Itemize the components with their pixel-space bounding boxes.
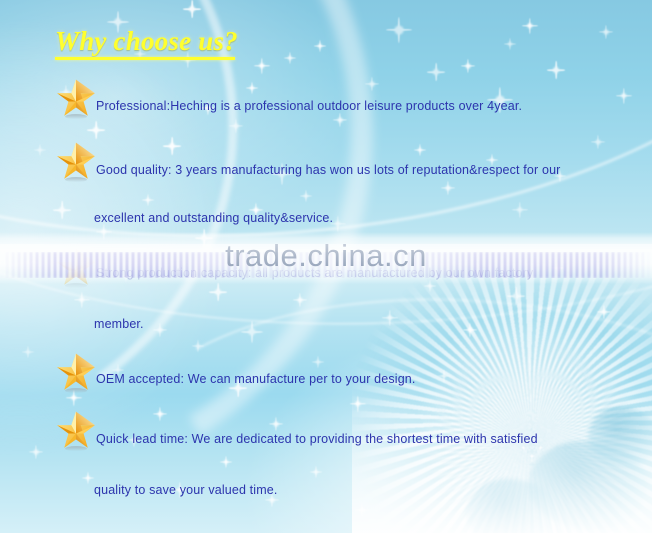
gold-star-icon	[55, 410, 97, 452]
gold-star-icon	[55, 78, 97, 120]
promo-banner: Why choose us? Professional:Hech	[0, 0, 652, 533]
list-item-text: excellent and outstanding quality&servic…	[94, 211, 333, 225]
gold-star-icon	[55, 141, 97, 183]
list-item-text: Good quality: 3 years manufacturing has …	[96, 163, 560, 177]
gold-star-icon	[55, 352, 97, 394]
gold-star-icon	[55, 352, 97, 394]
list-item-text: OEM accepted: We can manufacture per to …	[96, 372, 416, 386]
list-item-text: Quick lead time: We are dedicated to pro…	[96, 432, 538, 446]
gold-star-icon	[55, 141, 97, 183]
list-item-text: member.	[94, 317, 144, 331]
list-item-text: Professional:Heching is a professional o…	[96, 99, 522, 113]
list-item-text: quality to save your valued time.	[94, 483, 278, 497]
watermark-text: trade.china.cn	[0, 238, 652, 274]
gold-star-icon	[55, 410, 97, 452]
gold-star-icon	[55, 78, 97, 120]
